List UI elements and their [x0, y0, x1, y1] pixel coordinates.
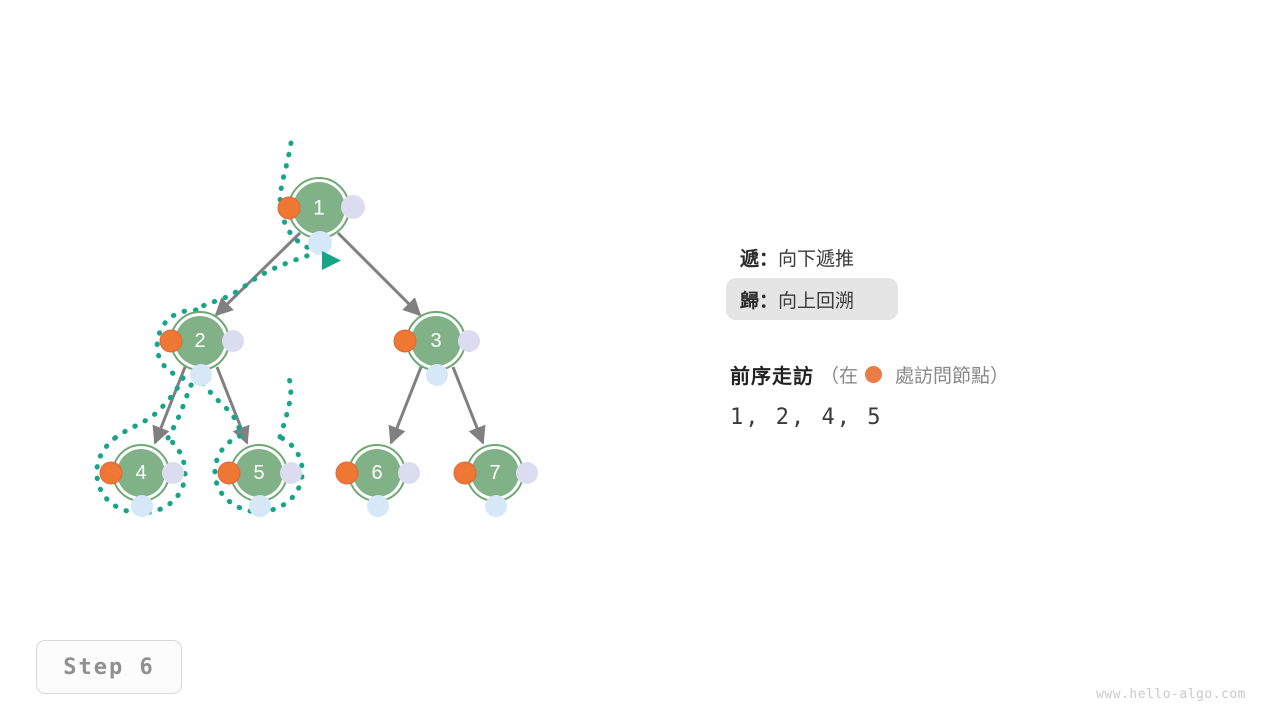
tree-node-5[interactable]: 5 [218, 445, 302, 517]
node-5-visit-dot [218, 462, 240, 484]
traversal-order-paren-open: （在 [820, 361, 858, 388]
traversal-order-heading: 前序走訪 （在 處訪問節點） [730, 360, 1210, 389]
trace-segment-4-back [168, 374, 196, 438]
traversal-order-title: 前序走訪 [730, 360, 814, 389]
node-6-label: 6 [371, 462, 382, 484]
node-7-bottom-slot-dot [485, 495, 507, 517]
node-5-bottom-slot-dot [249, 495, 271, 517]
node-7-visit-dot [454, 462, 476, 484]
edge-1-2 [216, 233, 300, 315]
legend-descend-key: 遞： [740, 244, 778, 271]
legend-descend-value: 向下遞推 [778, 244, 854, 271]
node-3-visit-dot [394, 330, 416, 352]
node-5-right-slot-dot [280, 462, 302, 484]
node-3-right-slot-dot [458, 330, 480, 352]
node-1-bottom-slot-dot [308, 231, 332, 255]
traversal-order-paren-close: 處訪問節點） [895, 361, 1009, 388]
legend-backtrack-key: 歸： [740, 286, 778, 313]
node-3-bottom-slot-dot [426, 364, 448, 386]
node-1-right-slot-dot [341, 195, 365, 219]
tree-node-3[interactable]: 3 [394, 312, 480, 386]
tree-node-4[interactable]: 4 [100, 445, 184, 517]
edge-2-5 [217, 367, 247, 443]
tree-nodes: 1 2 3 4 [100, 178, 538, 517]
footer-url: www.hello-algo.com [1096, 687, 1246, 702]
trace-segment-5-up [280, 374, 291, 437]
node-3-label: 3 [430, 330, 441, 352]
node-4-right-slot-dot [162, 462, 184, 484]
node-2-bottom-slot-dot [190, 364, 212, 386]
step-badge: Step 6 [36, 640, 182, 694]
traversal-order-sequence: 1, 2, 4, 5 [730, 405, 1210, 430]
edge-3-6 [391, 367, 421, 443]
node-1-visit-dot [278, 197, 300, 219]
tree-node-6[interactable]: 6 [336, 445, 420, 517]
node-4-bottom-slot-dot [131, 495, 153, 517]
node-5-label: 5 [253, 462, 264, 484]
orange-dot-icon [865, 366, 882, 383]
node-2-visit-dot [160, 330, 182, 352]
legend-row-backtrack: 歸： 向上回溯 [726, 278, 898, 320]
node-6-bottom-slot-dot [367, 495, 389, 517]
node-1-label: 1 [313, 197, 325, 220]
node-7-label: 7 [489, 462, 500, 484]
node-6-right-slot-dot [398, 462, 420, 484]
node-6-visit-dot [336, 462, 358, 484]
trace-segment-1-to-2 [196, 252, 318, 310]
edge-3-7 [453, 367, 483, 443]
edge-1-3 [338, 233, 420, 315]
node-4-label: 4 [135, 462, 146, 484]
current-position-triangle-icon [322, 251, 341, 270]
node-4-visit-dot [100, 462, 122, 484]
node-2-label: 2 [194, 330, 205, 352]
legend-row-descend: 遞： 向下遞推 [726, 236, 898, 278]
legend-backtrack-value: 向上回溯 [778, 286, 854, 313]
node-2-right-slot-dot [222, 330, 244, 352]
tree-node-7[interactable]: 7 [454, 445, 538, 517]
recursion-legend: 遞： 向下遞推 歸： 向上回溯 [726, 236, 1186, 320]
node-7-right-slot-dot [516, 462, 538, 484]
traversal-order-block: 前序走訪 （在 處訪問節點） 1, 2, 4, 5 [730, 360, 1210, 430]
